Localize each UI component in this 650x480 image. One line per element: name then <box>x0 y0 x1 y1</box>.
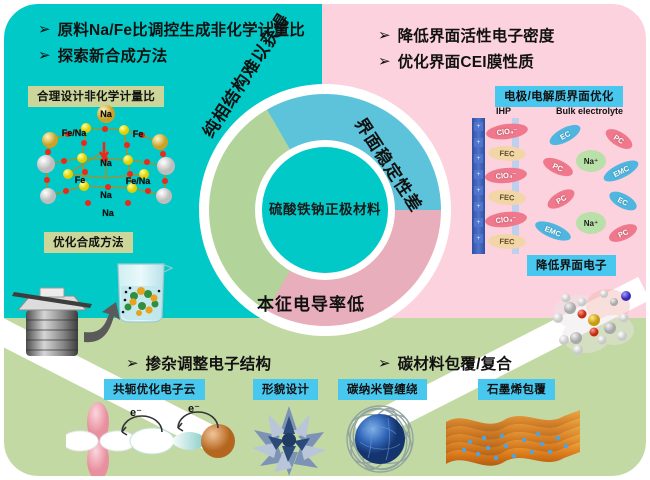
bullet-arrow-icon: ➢ <box>38 22 51 39</box>
bullet-list-bottom-left: ➢ 掺杂调整电子结构 <box>126 356 271 382</box>
atom-label: Na <box>102 208 114 218</box>
central-donut-chart: 硫酸铁钠正极材料 纯相结构难以获得 界面稳定性差 本征电导率低 <box>199 84 451 336</box>
bullet-list-bottom-right: ➢ 碳材料包覆/复合 <box>378 356 512 382</box>
crystal-structure-diagram: Na Fe/Na Fe Na Fe Fe/Na Na Na <box>28 104 188 228</box>
electrode-charge-icon: + <box>474 170 483 179</box>
segment-label-conductivity: 本征电导率低 <box>257 290 365 315</box>
bullet-arrow-icon: ➢ <box>378 356 391 373</box>
bullet-item: ➢ 优化界面CEI膜性质 <box>378 54 555 72</box>
atom-label: Fe <box>75 175 86 185</box>
badge-morphology-design: 形貌设计 <box>253 379 318 400</box>
bullet-item: ➢ 降低界面活性电子密度 <box>378 28 555 46</box>
electrode-charge-icon: + <box>474 202 483 211</box>
solvent-ligand-pill: PC <box>603 125 636 153</box>
solvent-ligand-pill: PC <box>541 154 576 180</box>
atom-label: Na <box>100 109 112 119</box>
autoclave-and-beaker-illustration <box>6 258 178 368</box>
electrode-charge-icon: + <box>474 138 483 147</box>
ihp-species-pill: ClO₄⁻ <box>485 121 529 141</box>
atom-label: Na <box>100 158 112 168</box>
electron-label: e⁻ <box>130 407 142 419</box>
solvent-ligand-pill: EC <box>606 188 639 214</box>
electrode-charge-icon: + <box>474 234 483 243</box>
ihp-species-pill: FEC <box>488 189 527 207</box>
atom-label: Fe/Na <box>126 176 152 186</box>
solvent-ligand-pill: EC <box>547 121 584 149</box>
atom-label: Fe/Na <box>62 128 88 138</box>
molecule-space-filling-model <box>542 278 646 362</box>
bullet-item: ➢ 掺杂调整电子结构 <box>126 356 271 374</box>
electrode-charge-icon: + <box>474 154 483 163</box>
solvent-ligand-pill: EMC <box>533 217 573 244</box>
ihp-species-pill: FEC <box>488 145 527 162</box>
ihp-species-pill: FEC <box>488 233 527 249</box>
carbon-nanotube-wrapped-particle <box>336 400 424 478</box>
graphene-coating-illustration <box>440 402 590 476</box>
bulk-electrolyte-header: Bulk electrolyte <box>556 106 623 116</box>
electron-label: e⁻ <box>188 403 200 415</box>
badge-lower-interface-electrons: 降低界面电子 <box>527 255 616 276</box>
bullet-arrow-icon: ➢ <box>378 28 391 45</box>
badge-conjugation-electron-cloud: 共轭优化电子云 <box>104 379 205 400</box>
badge-graphene-coating: 石墨烯包覆 <box>478 379 555 400</box>
bullet-list-top-right: ➢ 降低界面活性电子密度 ➢ 优化界面CEI膜性质 <box>378 28 555 80</box>
sodium-ion-node: Na⁺ <box>576 212 606 234</box>
core-label: 硫酸铁钠正极材料 <box>269 201 381 219</box>
badge-optimize-synthesis: 优化合成方法 <box>44 232 133 253</box>
bullet-text: 掺杂调整电子结构 <box>146 356 272 374</box>
electrode-charge-icon: + <box>474 218 483 227</box>
badge-cnt-wrapping: 碳纳米管缠绕 <box>338 379 427 400</box>
ihp-species-pill: ClO₄⁻ <box>484 166 527 185</box>
solvent-ligand-pill: PC <box>606 221 639 246</box>
bullet-arrow-icon: ➢ <box>126 356 139 373</box>
ihp-header: IHP <box>496 106 511 116</box>
bullet-text: 探索新合成方法 <box>58 48 168 66</box>
sodium-ion-node: Na⁺ <box>576 150 606 172</box>
solvent-ligand-pill: EMC <box>601 156 641 185</box>
bullet-item: ➢ 碳材料包覆/复合 <box>378 356 512 374</box>
orbital-electron-transfer-diagram: e⁻ e⁻ <box>66 398 250 476</box>
atom-label: Na <box>100 190 112 200</box>
flower-morphology-illustration <box>248 400 330 478</box>
badge-interface-optimization: 电极/电解质界面优化 <box>495 86 623 107</box>
electrode-charge-icon: + <box>474 186 483 195</box>
figure-canvas: ➢ 原料Na/Fe比调控生成非化学计量比 ➢ 探索新合成方法 合理设计非化学计量… <box>0 0 650 480</box>
bullet-arrow-icon: ➢ <box>378 54 391 71</box>
bullet-text: 碳材料包覆/复合 <box>398 356 512 374</box>
ihp-species-pill: ClO₄⁻ <box>484 210 527 229</box>
atom-label: Fe <box>133 129 144 139</box>
bullet-arrow-icon: ➢ <box>38 48 51 65</box>
bullet-text: 降低界面活性电子密度 <box>398 28 555 46</box>
bullet-text: 优化界面CEI膜性质 <box>398 54 534 72</box>
solvent-ligand-pill: PC <box>545 185 578 212</box>
electrode-charge-icon: + <box>474 122 483 131</box>
electrolyte-interface-diagram: + + + + + + + + IHP Bulk electrolyte ClO… <box>470 108 646 256</box>
donut-core: 硫酸铁钠正极材料 <box>262 147 388 273</box>
